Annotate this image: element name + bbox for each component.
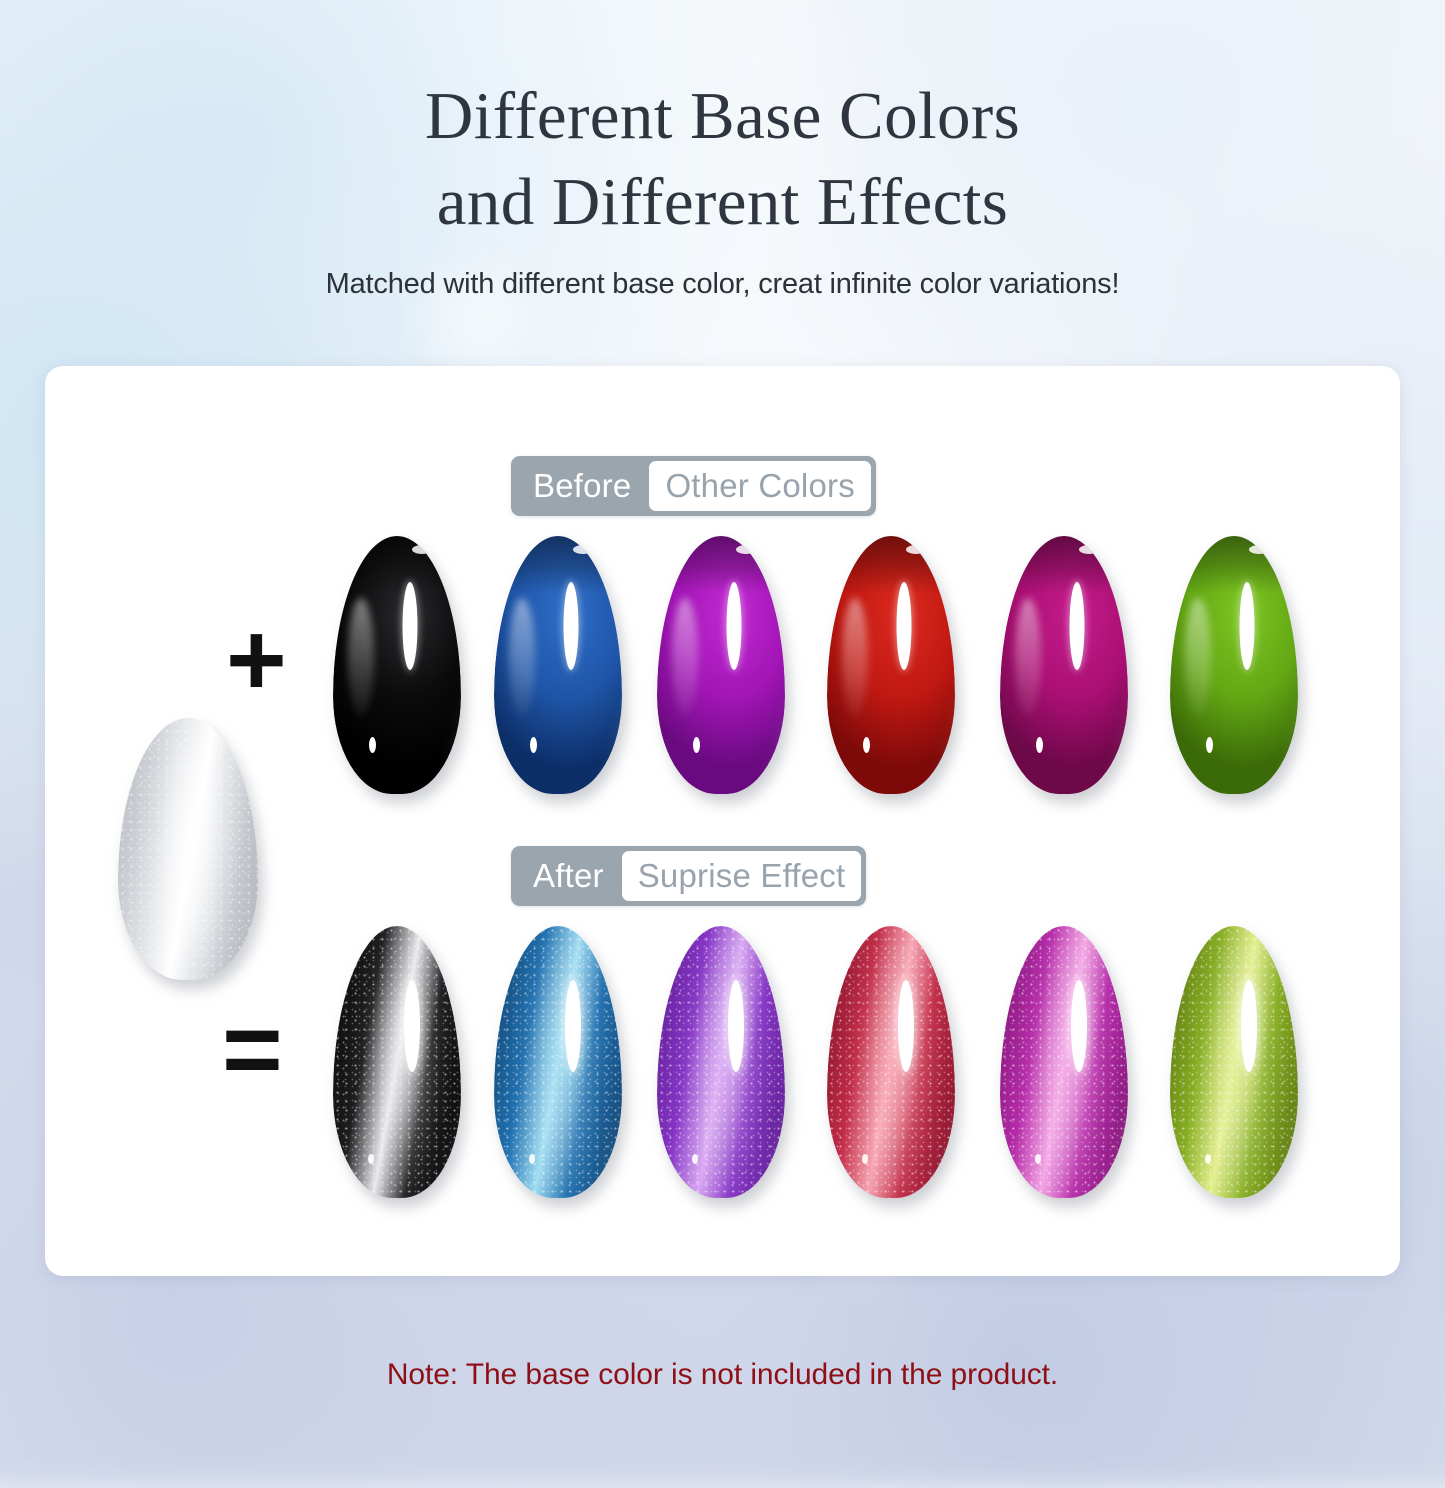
page-subtitle: Matched with different base color, creat… — [0, 268, 1445, 301]
plus-sign-icon: + — [226, 608, 287, 712]
badge-before-value: Other Colors — [649, 461, 870, 511]
disclaimer-note: Note: The base color is not included in … — [0, 1358, 1445, 1392]
badge-after-label: After — [511, 857, 622, 895]
badge-before-label: Before — [511, 467, 649, 505]
equals-sign-icon: = — [222, 998, 283, 1102]
badge-after-value: Suprise Effect — [622, 851, 862, 901]
header: Different Base Colors and Different Effe… — [0, 0, 1445, 301]
badge-before: Before Other Colors — [511, 456, 876, 516]
page-title: Different Base Colors and Different Effe… — [0, 74, 1445, 246]
badge-after: After Suprise Effect — [511, 846, 866, 906]
